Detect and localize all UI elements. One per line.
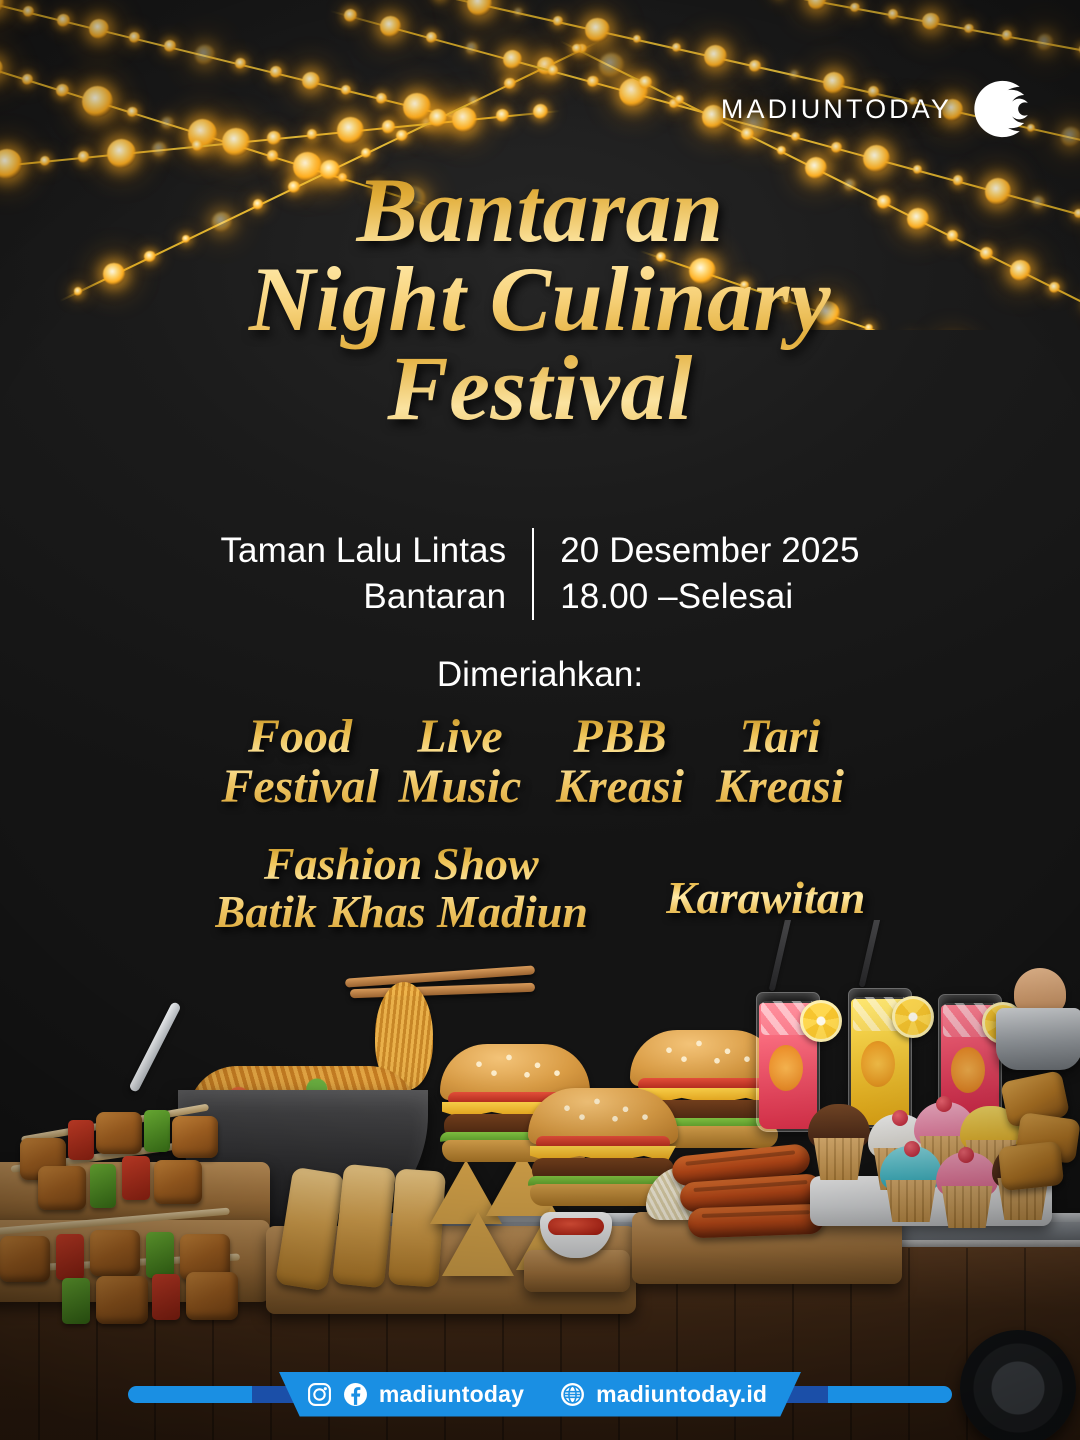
ladle-handle xyxy=(128,1001,181,1093)
poster-title: Bantaran Night Culinary Festival xyxy=(0,165,1080,434)
light-bulb xyxy=(192,140,203,151)
light-bulb xyxy=(57,14,70,27)
light-bulb xyxy=(922,13,939,30)
satay-meat xyxy=(0,1236,50,1282)
light-bulb xyxy=(78,151,90,163)
light-bulb xyxy=(585,18,609,42)
light-bulb xyxy=(1002,30,1012,40)
venue-block: Taman Lalu Lintas Bantaran xyxy=(220,528,532,620)
light-bulb xyxy=(426,32,437,43)
lineup-item-line2: Kreasi xyxy=(540,762,700,812)
brand-logo: MADIUNTODAY xyxy=(721,72,1036,146)
cupcake-liner xyxy=(810,1138,868,1180)
light-bulb xyxy=(89,19,109,39)
fried-chicken xyxy=(998,1141,1064,1191)
light-bulb xyxy=(587,76,599,88)
light-bulb xyxy=(548,65,558,75)
swoosh-circle-icon xyxy=(962,72,1036,146)
lineup-row-primary: Food Festival Live Music PBB Kreasi Tari… xyxy=(0,712,1080,812)
bell-pepper-green xyxy=(144,1110,170,1152)
lemon-garnish xyxy=(892,996,934,1038)
lineup-heading: Dimeriahkan: xyxy=(0,655,1080,695)
bell-pepper-green xyxy=(146,1232,174,1278)
light-bulb xyxy=(222,128,250,156)
berry-topping xyxy=(904,1141,920,1157)
lineup-item-line1: Fashion Show xyxy=(215,840,588,888)
lineup-item: Karawitan xyxy=(666,874,865,922)
stripe-segment xyxy=(128,1386,252,1403)
light-bulb xyxy=(466,42,478,54)
sausage xyxy=(688,1204,825,1239)
satay-meat xyxy=(186,1272,238,1320)
lineup-item-line2: Festival xyxy=(220,762,380,812)
light-bulb xyxy=(235,58,245,68)
food-photo-scene xyxy=(0,920,1080,1440)
light-bulb xyxy=(127,107,137,117)
lineup-item-line1: Food xyxy=(220,712,380,762)
berry-topping xyxy=(958,1147,974,1163)
light-bulb xyxy=(0,0,4,14)
satay-meat xyxy=(154,1160,202,1204)
lineup-item: Food Festival xyxy=(220,712,380,812)
light-bulb xyxy=(161,117,173,129)
event-date: 20 Desember 2025 xyxy=(560,528,859,574)
light-wire xyxy=(760,0,1080,62)
lemon-garnish xyxy=(800,1000,842,1042)
light-bulb xyxy=(888,9,899,20)
lineup-item-line1: Tari xyxy=(700,712,860,762)
satay-meat xyxy=(38,1166,86,1210)
poster-canvas: MADIUNTODAY Bantaran Night Culinary Fest… xyxy=(0,0,1080,1440)
cupcake-liner xyxy=(882,1180,940,1222)
satay-meat xyxy=(90,1230,140,1276)
light-bulb xyxy=(639,76,652,89)
light-bulb xyxy=(23,6,34,17)
lineup-row-secondary: Fashion Show Batik Khas Madiun Karawitan xyxy=(0,840,1080,936)
light-bulb xyxy=(503,50,522,69)
light-bulb xyxy=(1061,127,1080,147)
title-line-3: Festival xyxy=(0,343,1080,434)
light-bulb xyxy=(0,58,3,79)
light-bulb xyxy=(307,129,317,139)
light-bulb xyxy=(82,86,113,117)
light-bulb xyxy=(267,131,281,145)
title-line-2: Night Culinary xyxy=(0,254,1080,345)
light-bulb xyxy=(337,117,364,144)
satay-meat xyxy=(96,1112,142,1154)
website-text[interactable]: madiuntoday.id xyxy=(596,1381,767,1408)
fruit-slice-in-drink xyxy=(951,1047,985,1093)
fruit-slice-in-drink xyxy=(769,1045,803,1091)
light-bulb xyxy=(467,0,492,16)
light-bulb xyxy=(396,130,408,142)
light-bulb xyxy=(270,66,282,78)
social-handle-text[interactable]: madiuntoday xyxy=(379,1381,524,1408)
social-handles-pill: madiuntoday madiuntoday.id xyxy=(279,1372,801,1417)
chili-sauce xyxy=(548,1218,604,1235)
light-bulb xyxy=(107,139,136,168)
fruit-slice-in-drink xyxy=(861,1041,895,1087)
light-bulb xyxy=(344,9,357,22)
bell-pepper-red xyxy=(56,1234,84,1280)
light-bulb xyxy=(164,40,176,52)
light-bulb xyxy=(850,3,860,13)
light-bulb xyxy=(341,85,351,95)
berry-topping xyxy=(892,1110,908,1126)
light-bulb xyxy=(672,43,681,52)
metal-bucket xyxy=(996,1008,1080,1070)
social-footer-bar: madiuntoday madiuntoday.id xyxy=(0,1366,1080,1422)
datetime-block: 20 Desember 2025 18.00 –Selesai xyxy=(534,528,859,620)
instagram-icon[interactable] xyxy=(307,1382,332,1407)
light-bulb xyxy=(964,24,973,33)
venue-line-1: Taman Lalu Lintas xyxy=(220,528,506,574)
light-bulb xyxy=(195,45,214,64)
light-bulb xyxy=(22,74,33,85)
cupcake-liner xyxy=(938,1186,996,1228)
light-bulb xyxy=(129,32,140,43)
bell-pepper-green xyxy=(62,1278,90,1324)
venue-line-2: Bantaran xyxy=(220,574,506,620)
lineup-item-line1: Live xyxy=(380,712,540,762)
facebook-icon[interactable] xyxy=(343,1382,368,1407)
globe-icon[interactable] xyxy=(560,1382,585,1407)
lineup-item: Live Music xyxy=(380,712,540,812)
lineup-item-line2: Batik Khas Madiun xyxy=(215,888,588,936)
light-bulb xyxy=(382,120,396,134)
bell-pepper-green xyxy=(90,1164,116,1208)
light-bulb xyxy=(504,78,515,89)
samosa xyxy=(442,1212,514,1276)
bell-pepper-red xyxy=(152,1274,180,1320)
event-details: Taman Lalu Lintas Bantaran 20 Desember 2… xyxy=(0,528,1080,620)
light-bulb xyxy=(553,16,563,26)
light-bulb xyxy=(1037,34,1053,50)
lineup-item: Fashion Show Batik Khas Madiun xyxy=(215,840,588,936)
light-bulb xyxy=(152,142,167,157)
lineup-item: Tari Kreasi xyxy=(700,712,860,812)
lineup-item: PBB Kreasi xyxy=(540,712,700,812)
light-bulb xyxy=(56,84,69,97)
lineup-item-line1: PBB xyxy=(540,712,700,762)
light-bulb xyxy=(361,148,371,158)
light-bulb xyxy=(403,93,431,121)
satay-meat xyxy=(172,1116,218,1158)
lineup-item-line1: Karawitan xyxy=(666,874,865,922)
light-bulb xyxy=(429,109,447,127)
satay-meat xyxy=(96,1276,148,1324)
light-bulb xyxy=(533,104,548,119)
berry-topping xyxy=(936,1096,952,1112)
light-bulb xyxy=(704,45,727,68)
light-bulb xyxy=(380,16,401,37)
light-bulb xyxy=(633,35,641,43)
lineup-item-line2: Music xyxy=(380,762,540,812)
title-line-1: Bantaran xyxy=(0,165,1080,256)
light-bulb xyxy=(496,109,509,122)
cupcake xyxy=(806,1104,872,1180)
bell-pepper-red xyxy=(122,1156,150,1200)
event-time: 18.00 –Selesai xyxy=(560,574,859,620)
light-bulb xyxy=(808,0,826,10)
light-bulb xyxy=(376,93,387,104)
light-bulb xyxy=(469,96,479,106)
light-bulb xyxy=(749,60,761,72)
bell-pepper-red xyxy=(68,1120,94,1160)
light-bulb xyxy=(267,150,279,162)
lineup-item-line2: Kreasi xyxy=(700,762,860,812)
brand-logo-text: MADIUNTODAY xyxy=(721,94,952,125)
light-bulb xyxy=(302,72,320,90)
light-bulb xyxy=(599,53,624,78)
stripe-segment xyxy=(828,1386,952,1403)
